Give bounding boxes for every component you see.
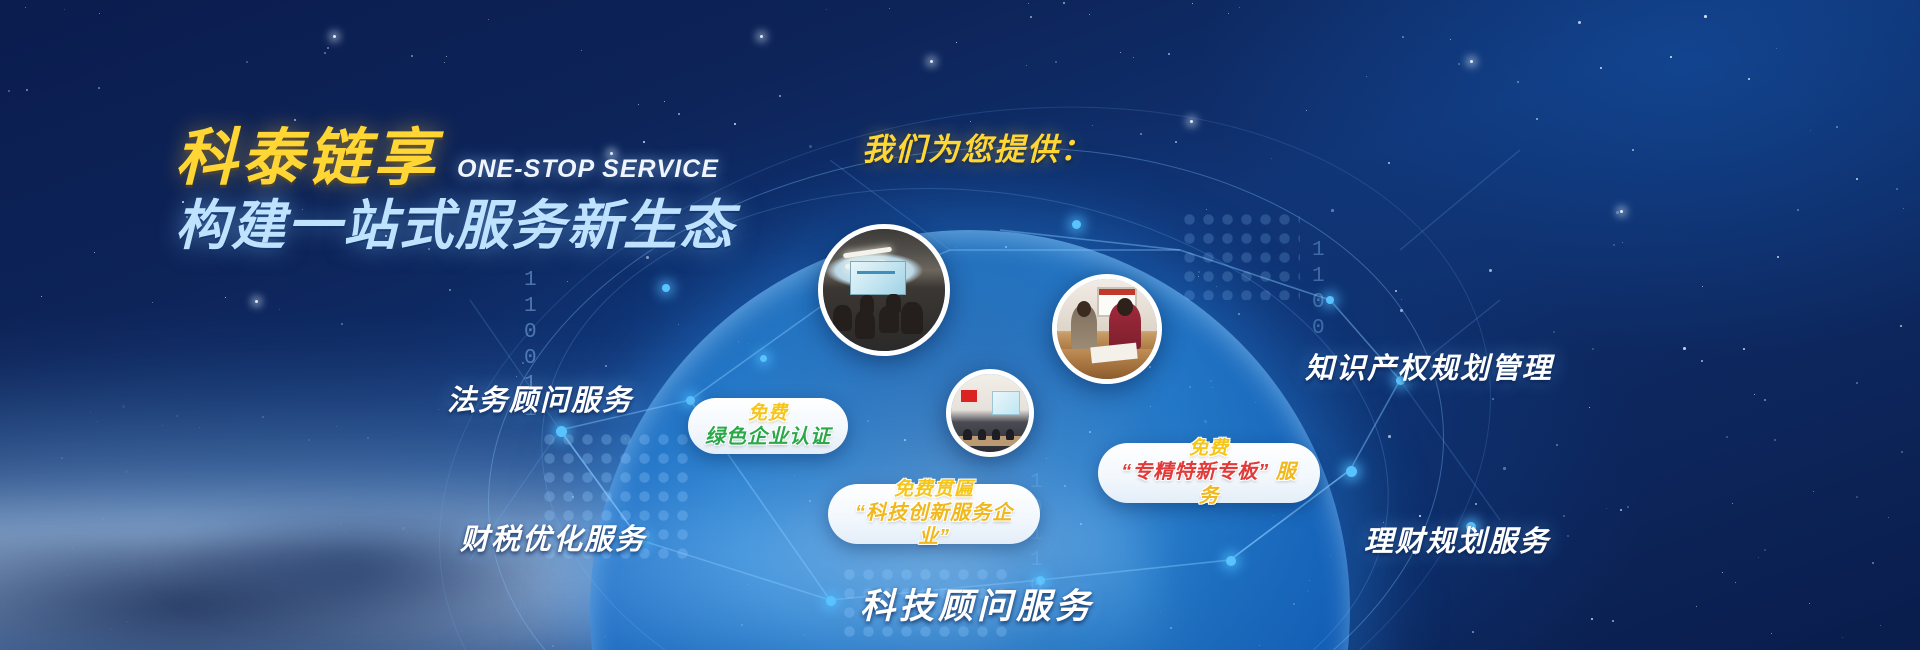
photo-office-desk <box>1052 274 1162 384</box>
headline-subline: 构建一站式服务新生态 <box>175 198 735 255</box>
badge-line2: “专精特新专板” <box>1121 461 1269 483</box>
network-node <box>556 426 567 437</box>
badge-green-cert[interactable]: 免费 绿色企业认证 <box>688 398 848 454</box>
badge-line1: 免费 <box>748 403 788 425</box>
network-node <box>1326 296 1334 304</box>
headline-block: 科泰链享 ONE-STOP SERVICE 构建一站式服务新生态 <box>175 128 735 255</box>
badge-line2: “科技创新服务企业” <box>844 501 1024 549</box>
badge-line1: 免费贯匾 <box>894 479 974 501</box>
service-label-law[interactable]: 法务顾问服务 <box>447 377 633 419</box>
network-node <box>1346 466 1357 477</box>
badge-line1: 免费 <box>1189 438 1229 460</box>
binary-column-2: 1100 <box>1312 238 1326 342</box>
service-label-ip[interactable]: 知识产权规划管理 <box>1305 345 1553 387</box>
badge-plaque[interactable]: 免费贯匾 “科技创新服务企业” <box>828 484 1040 544</box>
brand-tagline-en: ONE-STOP SERVICE <box>457 155 719 190</box>
photo-meeting-room <box>946 369 1034 457</box>
badge-special-board[interactable]: 免费 “专精特新专板” 服务 <box>1098 443 1320 503</box>
service-label-tech[interactable]: 科技顾问服务 <box>860 578 1094 629</box>
provide-label: 我们为您提供： <box>862 124 1093 169</box>
marketing-banner: 110011 1100 101101 科泰链享 ONE-STOP SERVICE… <box>0 0 1920 650</box>
photo-seminar-hall <box>818 224 950 356</box>
network-node <box>1072 220 1081 229</box>
network-node <box>686 396 695 405</box>
network-node <box>826 596 836 606</box>
badge-line2-wrap: “专精特新专板” 服务 <box>1114 460 1304 508</box>
brand-title: 科泰链享 <box>175 128 439 190</box>
network-node <box>1226 556 1236 566</box>
network-node <box>760 355 767 362</box>
network-node <box>662 284 670 292</box>
badge-line2: 绿色企业认证 <box>705 425 831 449</box>
service-label-finance[interactable]: 财税优化服务 <box>460 516 646 558</box>
service-label-wealth[interactable]: 理财规划服务 <box>1364 518 1550 560</box>
